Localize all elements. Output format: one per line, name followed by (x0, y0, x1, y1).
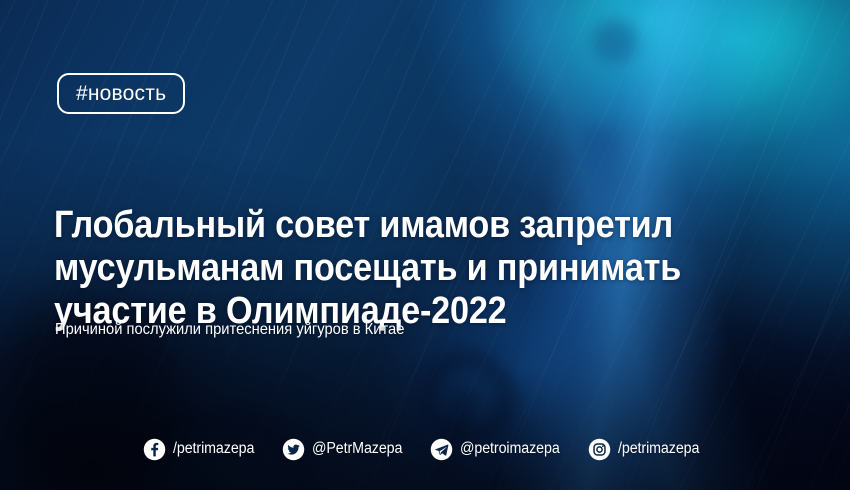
social-link-telegram[interactable]: @petroimazepa (430, 438, 568, 461)
card-content: #новость Глобальный совет имамов запрети… (0, 0, 850, 490)
facebook-icon (143, 438, 166, 461)
page-title: Глобальный совет имамов запретил мусульм… (54, 204, 684, 333)
telegram-icon (430, 438, 453, 461)
twitter-icon (282, 438, 305, 461)
social-links-bar: /petrimazepa @PetrMazepa (0, 432, 850, 466)
social-handle-telegram: @petroimazepa (460, 440, 560, 458)
instagram-icon (588, 438, 611, 461)
social-link-facebook[interactable]: /petrimazepa (143, 438, 261, 461)
social-handle-instagram: /petrimazepa (618, 440, 699, 458)
social-handle-facebook: /petrimazepa (173, 440, 254, 458)
social-handle-twitter: @PetrMazepa (312, 440, 402, 458)
news-card: #новость Глобальный совет имамов запрети… (0, 0, 850, 490)
social-link-instagram[interactable]: /petrimazepa (588, 438, 706, 461)
news-tag-badge[interactable]: #новость (57, 73, 185, 114)
social-link-twitter[interactable]: @PetrMazepa (282, 438, 410, 461)
page-subtitle: Причиной послужили притеснения уйгуров в… (55, 320, 404, 340)
